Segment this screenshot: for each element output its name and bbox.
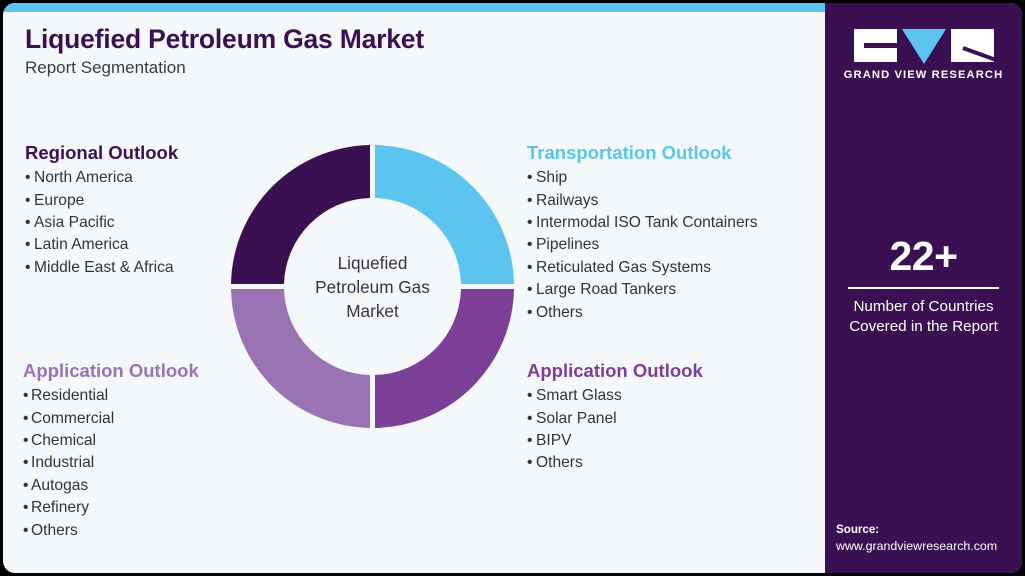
list-item-label: Ship	[536, 169, 567, 186]
bullet-icon: •	[527, 452, 536, 474]
source-url[interactable]: www.grandviewresearch.com	[836, 538, 1022, 555]
section-application-outlook-left: Application Outlook •Residential •Commer…	[23, 360, 199, 542]
list-item-label: Chemical	[31, 432, 96, 449]
bullet-icon: •	[527, 279, 536, 301]
bullet-icon: •	[527, 385, 536, 407]
list-item: •Intermodal ISO Tank Containers	[527, 212, 758, 234]
list-item: •Others	[527, 302, 758, 324]
donut-segment-regional	[231, 145, 370, 284]
list-item: •Smart Glass	[527, 385, 703, 407]
list-item: •Others	[23, 520, 199, 542]
list-item-label: Commercial	[31, 410, 114, 427]
list-item: •Ship	[527, 167, 758, 189]
list-item-label: Solar Panel	[536, 410, 617, 427]
donut-segment-application-left	[231, 289, 370, 428]
section-title-transportation: Transportation Outlook	[527, 142, 758, 163]
stat-label: Number of Countries Covered in the Repor…	[825, 297, 1022, 337]
list-item-label: BIPV	[536, 432, 572, 449]
list-item-label: Intermodal ISO Tank Containers	[536, 214, 758, 231]
list-item-label: Refinery	[31, 499, 89, 516]
list-item-label: Reticulated Gas Systems	[536, 259, 711, 276]
section-transportation-outlook: Transportation Outlook •Ship •Railways •…	[527, 142, 758, 324]
bullet-icon: •	[23, 430, 31, 452]
section-title-application-right: Application Outlook	[527, 360, 703, 381]
list-item: •Industrial	[23, 452, 199, 474]
stat-label-line-1: Number of Countries	[825, 297, 1022, 317]
list-item-label: Others	[536, 454, 583, 471]
bullet-icon: •	[527, 212, 536, 234]
list-item-label: Pipelines	[536, 236, 599, 253]
logo-r-icon	[951, 29, 994, 62]
logo-marks	[825, 29, 1022, 62]
list-item: •Europe	[25, 190, 178, 212]
list-item: •Solar Panel	[527, 408, 703, 430]
header: Liquefied Petroleum Gas Market Report Se…	[25, 25, 625, 78]
list-item: •Residential	[23, 385, 199, 407]
list-item-label: Industrial	[31, 454, 94, 471]
brand-logo: GRAND VIEW RESEARCH	[825, 29, 1022, 81]
list-item: •Middle East & Africa	[25, 257, 178, 279]
bullet-icon: •	[25, 167, 34, 189]
source-heading: Source:	[836, 521, 1022, 538]
list-item: •Others	[527, 452, 703, 474]
page-title: Liquefied Petroleum Gas Market	[25, 25, 625, 54]
list-item-label: Europe	[34, 192, 84, 209]
section-application-outlook-right: Application Outlook •Smart Glass •Solar …	[527, 360, 703, 475]
list-application-outlook-left: •Residential •Commercial •Chemical •Indu…	[23, 385, 199, 542]
list-transportation-outlook: •Ship •Railways •Intermodal ISO Tank Con…	[527, 167, 758, 324]
list-regional-outlook: •North America •Europe •Asia Pacific •La…	[25, 167, 178, 279]
list-item-label: Large Road Tankers	[536, 281, 676, 298]
logo-g-icon	[854, 29, 897, 62]
list-item: •North America	[25, 167, 178, 189]
list-item: •Asia Pacific	[25, 212, 178, 234]
stat-value: 22+	[825, 236, 1022, 277]
donut-segment-application-right	[375, 289, 514, 428]
list-item-label: Latin America	[34, 236, 128, 253]
bullet-icon: •	[527, 257, 536, 279]
section-title-application-left: Application Outlook	[23, 360, 199, 381]
list-item-label: Smart Glass	[536, 387, 622, 404]
list-item-label: Railways	[536, 192, 598, 209]
bullet-icon: •	[527, 190, 536, 212]
list-item: •Chemical	[23, 430, 199, 452]
list-item-label: Asia Pacific	[34, 214, 115, 231]
list-item: •BIPV	[527, 430, 703, 452]
list-item: •Autogas	[23, 475, 199, 497]
bullet-icon: •	[25, 234, 34, 256]
bullet-icon: •	[527, 430, 536, 452]
source-block: Source: www.grandviewresearch.com	[836, 521, 1022, 555]
list-item-label: Others	[536, 304, 583, 321]
list-item-label: Residential	[31, 387, 108, 404]
bullet-icon: •	[23, 408, 31, 430]
page-subtitle: Report Segmentation	[25, 59, 625, 78]
bullet-icon: •	[527, 302, 536, 324]
bullet-icon: •	[25, 190, 34, 212]
logo-wordmark: GRAND VIEW RESEARCH	[825, 69, 1022, 81]
section-title-regional: Regional Outlook	[25, 142, 178, 163]
donut-segment-transportation	[375, 145, 514, 284]
stat-label-line-2: Covered in the Report	[825, 317, 1022, 337]
stat-divider	[848, 287, 999, 289]
bullet-icon: •	[25, 212, 34, 234]
list-item-label: Autogas	[31, 477, 88, 494]
list-item: •Large Road Tankers	[527, 279, 758, 301]
list-item: •Railways	[527, 190, 758, 212]
bullet-icon: •	[23, 475, 31, 497]
donut-chart-svg	[231, 145, 514, 428]
list-item: •Refinery	[23, 497, 199, 519]
bullet-icon: •	[23, 452, 31, 474]
list-item-label: Middle East & Africa	[34, 259, 174, 276]
top-accent-bar	[3, 3, 825, 12]
list-item-label: North America	[34, 169, 133, 186]
list-item-label: Others	[31, 522, 78, 539]
infographic-root: Liquefied Petroleum Gas Market Report Se…	[0, 0, 1025, 576]
infographic-card: Liquefied Petroleum Gas Market Report Se…	[3, 3, 1022, 573]
side-panel: GRAND VIEW RESEARCH 22+ Number of Countr…	[825, 3, 1022, 573]
bullet-icon: •	[25, 257, 34, 279]
list-item: •Reticulated Gas Systems	[527, 257, 758, 279]
section-regional-outlook: Regional Outlook •North America •Europe …	[25, 142, 178, 279]
stat-block: 22+ Number of Countries Covered in the R…	[825, 236, 1022, 337]
list-item: •Latin America	[25, 234, 178, 256]
list-item: •Commercial	[23, 408, 199, 430]
bullet-icon: •	[23, 497, 31, 519]
logo-v-triangle-icon	[902, 29, 946, 64]
bullet-icon: •	[527, 234, 536, 256]
list-item: •Pipelines	[527, 234, 758, 256]
bullet-icon: •	[527, 408, 536, 430]
bullet-icon: •	[23, 520, 31, 542]
donut-chart: Liquefied Petroleum Gas Market	[231, 145, 514, 428]
bullet-icon: •	[527, 167, 536, 189]
list-application-outlook-right: •Smart Glass •Solar Panel •BIPV •Others	[527, 385, 703, 475]
bullet-icon: •	[23, 385, 31, 407]
